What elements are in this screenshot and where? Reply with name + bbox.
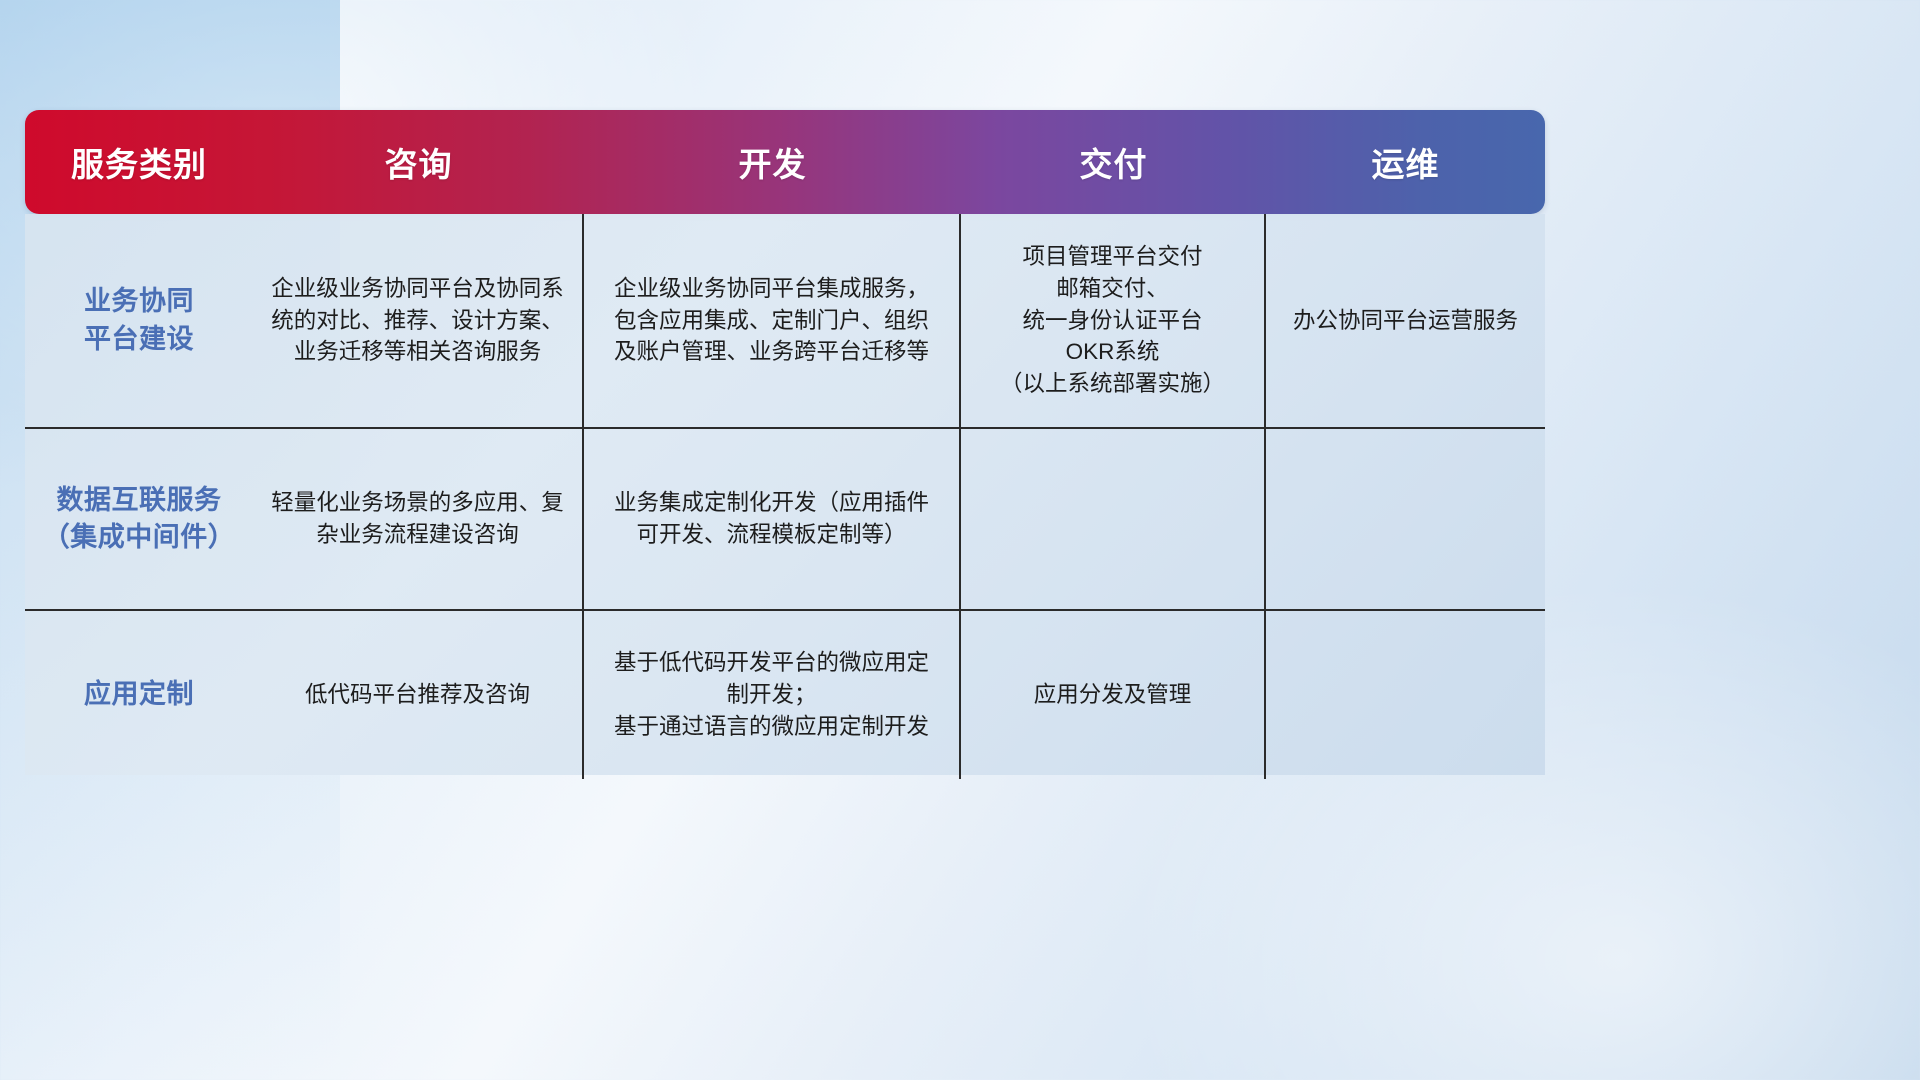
cell-development: 企业级业务协同平台集成服务， 包含应用集成、定制门户、组织 及账户管理、业务跨平… xyxy=(584,214,961,427)
row-category-label: 数据互联服务 （集成中间件） xyxy=(25,429,253,609)
table-header-cell-consulting: 咨询 xyxy=(253,110,584,214)
cell-delivery: 项目管理平台交付 邮箱交付、 统一身份认证平台 OKR系统 （以上系统部署实施） xyxy=(961,214,1266,427)
table-header-cell-operations: 运维 xyxy=(1266,110,1545,214)
table-row: 数据互联服务 （集成中间件） 轻量化业务场景的多应用、复 杂业务流程建设咨询 业… xyxy=(25,429,1545,611)
table-row: 应用定制 低代码平台推荐及咨询 基于低代码开发平台的微应用定 制开发； 基于通过… xyxy=(25,611,1545,779)
cell-delivery: 应用分发及管理 xyxy=(961,611,1266,779)
cell-operations: 办公协同平台运营服务 xyxy=(1266,214,1545,427)
table-body: 业务协同 平台建设 企业级业务协同平台及协同系 统的对比、推荐、设计方案、 业务… xyxy=(25,214,1545,775)
cell-delivery xyxy=(961,429,1266,609)
table-header-cell-development: 开发 xyxy=(584,110,961,214)
service-category-table: 服务类别 咨询 开发 交付 运维 业务协同 平台建设 企业级业务协同平台及协同系… xyxy=(25,110,1545,775)
cell-development: 业务集成定制化开发（应用插件 可开发、流程模板定制等） xyxy=(584,429,961,609)
row-category-label: 应用定制 xyxy=(25,611,253,779)
cell-operations xyxy=(1266,429,1545,609)
table-row: 业务协同 平台建设 企业级业务协同平台及协同系 统的对比、推荐、设计方案、 业务… xyxy=(25,214,1545,429)
row-category-label: 业务协同 平台建设 xyxy=(25,214,253,427)
cell-operations xyxy=(1266,611,1545,779)
table-header-row: 服务类别 咨询 开发 交付 运维 xyxy=(25,110,1545,214)
cell-consulting: 轻量化业务场景的多应用、复 杂业务流程建设咨询 xyxy=(253,429,584,609)
table-header-cell-delivery: 交付 xyxy=(961,110,1266,214)
table-header-cell-category: 服务类别 xyxy=(25,110,253,214)
cell-consulting: 企业级业务协同平台及协同系 统的对比、推荐、设计方案、 业务迁移等相关咨询服务 xyxy=(253,214,584,427)
cell-development: 基于低代码开发平台的微应用定 制开发； 基于通过语言的微应用定制开发 xyxy=(584,611,961,779)
cell-consulting: 低代码平台推荐及咨询 xyxy=(253,611,584,779)
